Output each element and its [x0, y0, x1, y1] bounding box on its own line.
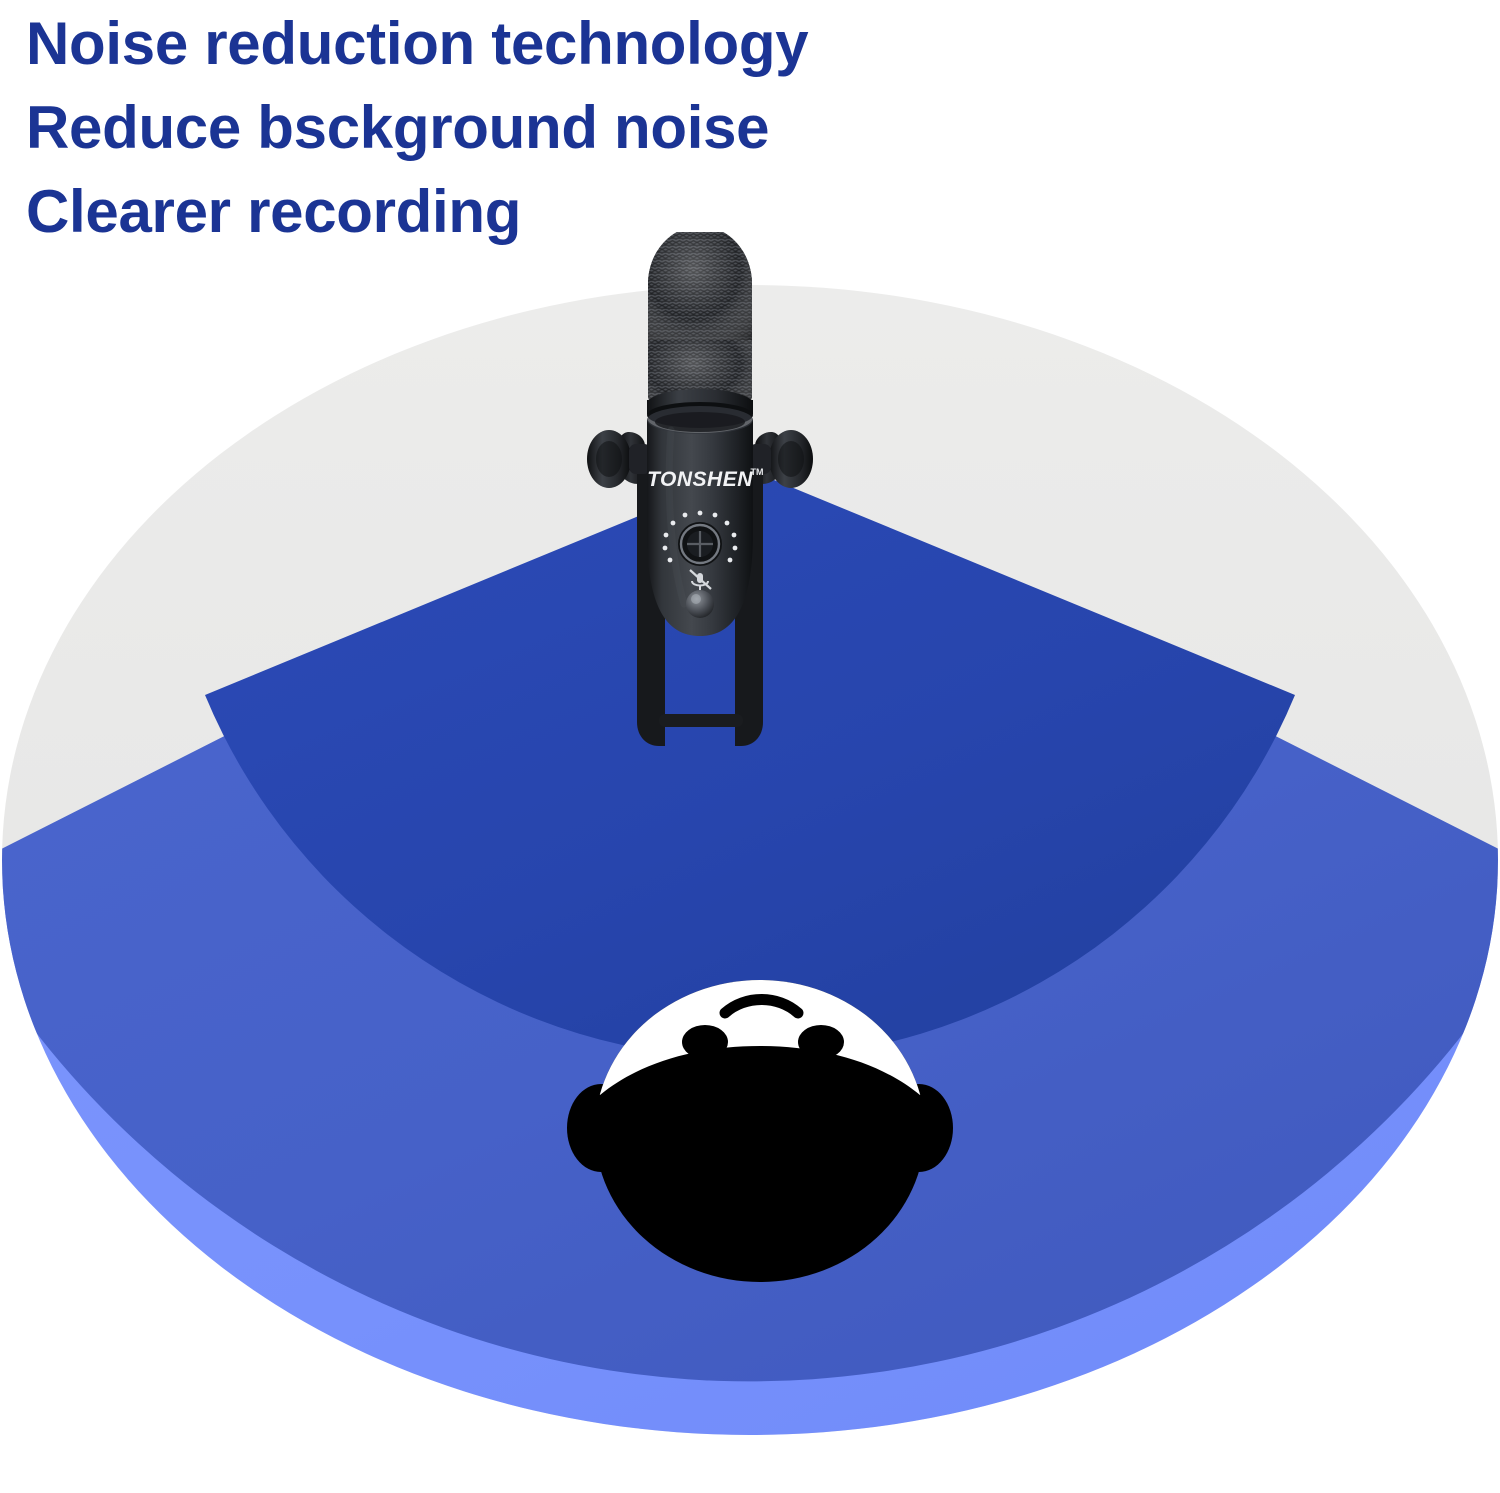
tension-knob-left[interactable] [587, 430, 631, 488]
tension-knob-right[interactable] [769, 430, 813, 488]
microphone: TONSHEN TM [585, 232, 915, 792]
left-eye [682, 1025, 728, 1059]
brand-trademark: TM [751, 467, 764, 477]
stand-crossbar-lower [659, 714, 743, 727]
brand-name: TONSHEN [647, 468, 753, 491]
product-infographic: Noise reduction technology Reduce bsckgr… [0, 0, 1500, 1493]
brand-logo: TONSHEN TM [647, 467, 763, 491]
right-eye [798, 1025, 844, 1059]
mute-button[interactable] [686, 590, 714, 618]
microphone-illustration: TONSHEN TM [585, 232, 915, 792]
